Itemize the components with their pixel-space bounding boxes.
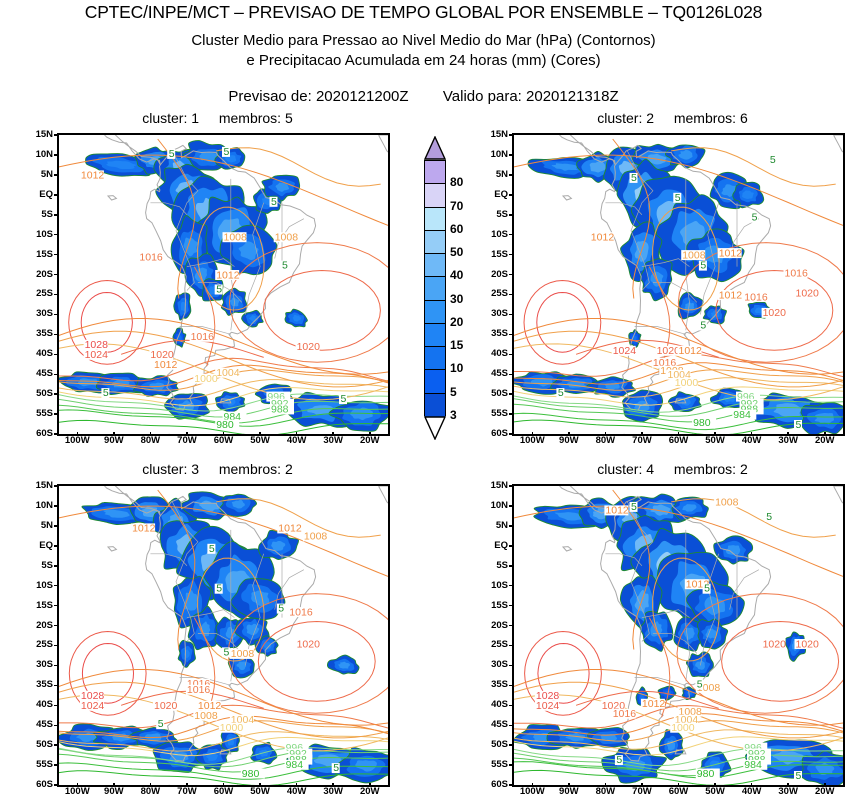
x-axis-tick-label: 20W xyxy=(808,435,842,446)
colorbar-label-60: 60 xyxy=(450,222,463,236)
colorbar-cell-70 xyxy=(425,184,445,207)
x-axis-tick-label: 20W xyxy=(353,435,387,446)
y-axis-tick-label: 10S xyxy=(482,229,508,240)
map-panel-cluster-4[interactable]: 1012101210081020100810281024102010121016… xyxy=(512,484,845,787)
x-axis-tick xyxy=(113,783,115,787)
y-axis-tick-label: 45S xyxy=(27,368,53,379)
x-axis-tick-label: 20W xyxy=(353,786,387,797)
x-axis-tick-label: 100W xyxy=(515,786,549,797)
x-axis-tick xyxy=(186,783,188,787)
svg-text:1008: 1008 xyxy=(304,531,328,543)
svg-text:1024: 1024 xyxy=(536,700,560,712)
y-axis-tick-label: 5N xyxy=(27,520,53,531)
y-axis-tick xyxy=(54,413,58,415)
x-axis-tick xyxy=(787,432,789,436)
y-axis-tick-label: 40S xyxy=(482,699,508,710)
y-axis-tick-label: 50S xyxy=(27,739,53,750)
colorbar-cell-10 xyxy=(425,347,445,370)
svg-text:1012: 1012 xyxy=(591,232,615,244)
panel-caption-cluster-2: cluster: 2 membros: 6 xyxy=(500,110,845,126)
svg-text:5: 5 xyxy=(333,762,339,774)
colorbar-cell-15 xyxy=(425,324,445,347)
y-axis-tick-label: 35S xyxy=(27,679,53,690)
map-panel-cluster-2[interactable]: 1012100810121024102010121016100810161020… xyxy=(512,133,845,436)
subtitle-line-1: Cluster Medio para Pressao ao Nivel Medi… xyxy=(0,32,847,49)
map-panel-cluster-1[interactable]: 1012101610081008101210281024102010121016… xyxy=(57,133,390,436)
y-axis-tick xyxy=(54,174,58,176)
y-axis-tick-label: 10N xyxy=(27,500,53,511)
y-axis-tick xyxy=(509,685,513,687)
y-axis-tick xyxy=(54,433,58,435)
x-axis-tick-label: 80W xyxy=(133,786,167,797)
y-axis-tick xyxy=(509,134,513,136)
y-axis-tick xyxy=(54,134,58,136)
x-axis-tick-label: 40W xyxy=(735,435,769,446)
y-axis-tick-label: 5S xyxy=(482,560,508,571)
members-label-1: membros: xyxy=(219,110,281,126)
y-axis-tick xyxy=(509,393,513,395)
svg-text:1024: 1024 xyxy=(81,700,105,712)
x-axis-tick-label: 80W xyxy=(588,786,622,797)
svg-text:1016: 1016 xyxy=(613,708,637,720)
map-canvas-cluster-2: 1012100810121024102010121016100810161020… xyxy=(514,135,843,434)
x-axis-tick-label: 30W xyxy=(771,786,805,797)
y-axis-tick-label: 60S xyxy=(482,428,508,439)
x-axis-tick xyxy=(259,783,261,787)
colorbar-cell-30 xyxy=(425,277,445,300)
y-axis-tick xyxy=(509,314,513,316)
svg-text:5: 5 xyxy=(209,543,215,555)
x-axis-tick xyxy=(568,783,570,787)
forecast-time-line: Previsao de: 2020121200Z Valido para: 20… xyxy=(0,88,847,105)
colorbar-cell-80 xyxy=(425,161,445,184)
forecast-init-value: 2020121200Z xyxy=(316,88,409,105)
y-axis-tick xyxy=(54,625,58,627)
colorbar-cell-5 xyxy=(425,370,445,393)
svg-text:1020: 1020 xyxy=(796,638,820,650)
svg-text:1020: 1020 xyxy=(657,345,681,357)
colorbar-cell-50 xyxy=(425,231,445,254)
colorbar-label-70: 70 xyxy=(450,199,463,213)
y-axis-tick xyxy=(509,214,513,216)
y-axis-tick xyxy=(54,764,58,766)
svg-text:1016: 1016 xyxy=(785,267,809,279)
members-value-2: 6 xyxy=(740,110,748,126)
y-axis-tick xyxy=(54,565,58,567)
x-axis-tick-label: 60W xyxy=(662,435,696,446)
y-axis-tick xyxy=(509,545,513,547)
x-axis-tick-label: 60W xyxy=(662,786,696,797)
x-axis-tick xyxy=(223,432,225,436)
members-label-2: membros: xyxy=(674,110,736,126)
y-axis-tick-label: 5S xyxy=(482,209,508,220)
x-axis-tick-label: 100W xyxy=(515,435,549,446)
svg-text:980: 980 xyxy=(242,768,260,780)
y-axis-tick xyxy=(509,433,513,435)
svg-text:1016: 1016 xyxy=(191,331,215,343)
svg-text:5: 5 xyxy=(224,646,230,658)
y-axis-tick xyxy=(509,705,513,707)
y-axis-tick xyxy=(509,744,513,746)
y-axis-tick-label: EQ xyxy=(27,540,53,551)
colorbar-label-5: 5 xyxy=(450,385,457,399)
y-axis-tick-label: 25S xyxy=(482,288,508,299)
y-axis-tick xyxy=(509,174,513,176)
y-axis-tick-label: 10S xyxy=(27,580,53,591)
x-axis-tick xyxy=(150,783,152,787)
svg-text:1000: 1000 xyxy=(220,722,244,734)
svg-text:5: 5 xyxy=(796,419,802,431)
y-axis-tick-label: 55S xyxy=(27,759,53,770)
y-axis-tick-label: 15S xyxy=(27,600,53,611)
svg-text:5: 5 xyxy=(278,603,284,615)
x-axis-tick-label: 50W xyxy=(698,786,732,797)
x-axis-tick xyxy=(824,783,826,787)
x-axis-tick-label: 90W xyxy=(552,786,586,797)
cluster-value-4: 4 xyxy=(646,461,654,477)
x-axis-tick-label: 80W xyxy=(133,435,167,446)
colorbar-top-arrow xyxy=(424,136,446,160)
y-axis-tick-label: EQ xyxy=(27,189,53,200)
svg-text:1008: 1008 xyxy=(194,710,218,722)
members-value-3: 2 xyxy=(285,461,293,477)
x-axis-tick-label: 90W xyxy=(97,786,131,797)
y-axis-tick xyxy=(54,234,58,236)
x-axis-tick-label: 60W xyxy=(207,786,241,797)
svg-text:1008: 1008 xyxy=(275,232,299,244)
svg-text:1020: 1020 xyxy=(763,307,787,319)
y-axis-tick-label: 15S xyxy=(482,249,508,260)
y-axis-tick xyxy=(509,154,513,156)
svg-text:5: 5 xyxy=(169,148,175,160)
precipitation-shading xyxy=(514,494,843,785)
svg-text:980: 980 xyxy=(693,417,711,429)
y-axis-tick xyxy=(509,294,513,296)
svg-text:1012: 1012 xyxy=(719,289,743,301)
y-axis-tick-label: 10N xyxy=(482,500,508,511)
y-axis-tick xyxy=(509,505,513,507)
y-axis-tick xyxy=(54,214,58,216)
y-axis-tick xyxy=(54,645,58,647)
x-axis-tick xyxy=(77,783,79,787)
svg-text:5: 5 xyxy=(103,387,109,399)
x-axis-tick xyxy=(186,432,188,436)
members-value-1: 5 xyxy=(285,110,293,126)
x-axis-tick xyxy=(824,432,826,436)
y-axis-tick-label: EQ xyxy=(482,540,508,551)
x-axis-tick-label: 40W xyxy=(735,786,769,797)
svg-text:1016: 1016 xyxy=(744,291,768,303)
svg-text:5: 5 xyxy=(216,284,222,296)
x-axis-tick-label: 30W xyxy=(316,786,350,797)
y-axis-tick-label: 55S xyxy=(27,408,53,419)
panel-caption-cluster-3: cluster: 3 membros: 2 xyxy=(45,461,390,477)
y-axis-tick xyxy=(509,565,513,567)
x-axis-tick-label: 40W xyxy=(280,435,314,446)
svg-text:5: 5 xyxy=(631,501,637,513)
svg-text:5: 5 xyxy=(341,393,347,405)
x-axis-tick-label: 70W xyxy=(625,435,659,446)
colorbar-cell-60 xyxy=(425,208,445,231)
x-axis-tick-label: 100W xyxy=(60,786,94,797)
y-axis-tick xyxy=(509,354,513,356)
y-axis-tick-label: 35S xyxy=(482,328,508,339)
y-axis-tick xyxy=(509,374,513,376)
cluster-value-3: 3 xyxy=(191,461,199,477)
y-axis-tick xyxy=(54,254,58,256)
y-axis-tick-label: 25S xyxy=(27,639,53,650)
x-axis-tick xyxy=(113,432,115,436)
y-axis-tick-label: 45S xyxy=(482,719,508,730)
x-axis-tick-label: 50W xyxy=(698,435,732,446)
y-axis-tick xyxy=(509,274,513,276)
svg-text:1008: 1008 xyxy=(715,497,739,509)
y-axis-tick xyxy=(54,545,58,547)
y-axis-tick-label: 25S xyxy=(27,288,53,299)
colorbar-label-40: 40 xyxy=(450,268,463,282)
y-axis-tick-label: 40S xyxy=(27,348,53,359)
svg-text:988: 988 xyxy=(271,404,289,416)
x-axis-tick xyxy=(641,432,643,436)
y-axis-tick-label: 25S xyxy=(482,639,508,650)
y-axis-tick xyxy=(509,254,513,256)
svg-text:1012: 1012 xyxy=(642,698,666,710)
svg-text:1024: 1024 xyxy=(85,349,109,361)
y-axis-tick xyxy=(54,393,58,395)
colorbar-label-20: 20 xyxy=(450,315,463,329)
x-axis-tick-label: 30W xyxy=(316,435,350,446)
x-axis-tick xyxy=(223,783,225,787)
x-axis-tick xyxy=(332,783,334,787)
colorbar-label-30: 30 xyxy=(450,292,463,306)
cluster-value-2: 2 xyxy=(646,110,654,126)
svg-text:984: 984 xyxy=(733,409,751,421)
svg-text:1012: 1012 xyxy=(216,269,240,281)
y-axis-tick-label: 35S xyxy=(482,679,508,690)
svg-text:1016: 1016 xyxy=(139,251,163,263)
svg-text:1008: 1008 xyxy=(231,648,255,660)
svg-text:5: 5 xyxy=(770,154,776,166)
svg-text:984: 984 xyxy=(744,759,762,771)
svg-text:5: 5 xyxy=(282,260,288,272)
y-axis-tick-label: 5N xyxy=(482,169,508,180)
svg-text:1008: 1008 xyxy=(224,232,248,244)
y-axis-tick-label: 50S xyxy=(27,388,53,399)
colorbar-label-80: 80 xyxy=(450,175,463,189)
colorbar-body xyxy=(424,160,446,416)
svg-text:1000: 1000 xyxy=(194,373,218,385)
forecast-init-label: Previsao de: xyxy=(228,88,311,105)
map-canvas-cluster-3: 1012101610201008102810241020101610161012… xyxy=(59,486,388,785)
members-label-3: membros: xyxy=(219,461,281,477)
y-axis-tick-label: 10N xyxy=(27,149,53,160)
svg-text:5: 5 xyxy=(271,196,277,208)
colorbar-label-50: 50 xyxy=(450,245,463,259)
y-axis-tick-label: 40S xyxy=(482,348,508,359)
y-axis-tick xyxy=(54,705,58,707)
y-axis-tick-label: 30S xyxy=(482,659,508,670)
y-axis-tick-label: 15N xyxy=(27,480,53,491)
precipitation-colorbar: 80706050403020151053 xyxy=(424,136,446,436)
colorbar-cell-40 xyxy=(425,254,445,277)
svg-text:1012: 1012 xyxy=(679,345,703,357)
x-axis-tick-label: 50W xyxy=(243,435,277,446)
x-axis-tick xyxy=(77,432,79,436)
x-axis-tick xyxy=(751,783,753,787)
y-axis-tick-label: 45S xyxy=(482,368,508,379)
x-axis-tick xyxy=(787,783,789,787)
svg-text:5: 5 xyxy=(700,319,706,331)
x-axis-tick xyxy=(369,783,371,787)
x-axis-tick xyxy=(605,783,607,787)
svg-text:5: 5 xyxy=(704,583,710,595)
y-axis-tick xyxy=(54,154,58,156)
svg-text:980: 980 xyxy=(697,768,715,780)
y-axis-tick xyxy=(509,665,513,667)
svg-text:1020: 1020 xyxy=(297,638,321,650)
svg-text:1012: 1012 xyxy=(605,505,629,517)
y-axis-tick xyxy=(54,505,58,507)
svg-text:1012: 1012 xyxy=(81,170,105,182)
members-value-4: 2 xyxy=(740,461,748,477)
x-axis-tick-label: 20W xyxy=(808,786,842,797)
x-axis-tick-label: 50W xyxy=(243,786,277,797)
x-axis-tick xyxy=(568,432,570,436)
panel-caption-cluster-4: cluster: 4 membros: 2 xyxy=(500,461,845,477)
y-axis-tick xyxy=(54,354,58,356)
y-axis-tick-label: 60S xyxy=(27,779,53,790)
y-axis-tick-label: 50S xyxy=(482,739,508,750)
y-axis-tick xyxy=(54,374,58,376)
y-axis-tick-label: EQ xyxy=(482,189,508,200)
svg-text:1020: 1020 xyxy=(297,341,321,353)
map-panel-cluster-3[interactable]: 1012101610201008102810241020101610161012… xyxy=(57,484,390,787)
y-axis-tick-label: 40S xyxy=(27,699,53,710)
x-axis-tick-label: 70W xyxy=(625,786,659,797)
y-axis-tick xyxy=(509,764,513,766)
svg-text:1016: 1016 xyxy=(187,684,211,696)
y-axis-tick-label: 5N xyxy=(27,169,53,180)
y-axis-tick-label: 5S xyxy=(27,560,53,571)
y-axis-tick-label: 5N xyxy=(482,520,508,531)
y-axis-tick-label: 20S xyxy=(27,269,53,280)
y-axis-tick-label: 60S xyxy=(482,779,508,790)
map-canvas-cluster-4: 1012101210081020100810281024102010121016… xyxy=(514,486,843,785)
y-axis-tick xyxy=(54,665,58,667)
svg-text:1024: 1024 xyxy=(613,345,637,357)
panel-caption-cluster-1: cluster: 1 membros: 5 xyxy=(45,110,390,126)
x-axis-tick-label: 30W xyxy=(771,435,805,446)
colorbar-label-3: 3 xyxy=(450,408,457,422)
x-axis-tick xyxy=(332,432,334,436)
members-label-4: membros: xyxy=(674,461,736,477)
y-axis-tick xyxy=(509,585,513,587)
colorbar-cell-3 xyxy=(425,394,445,417)
svg-text:5: 5 xyxy=(697,678,703,690)
y-axis-tick xyxy=(509,485,513,487)
svg-text:1016: 1016 xyxy=(289,606,313,618)
svg-text:984: 984 xyxy=(286,759,304,771)
svg-text:5: 5 xyxy=(766,511,772,523)
x-axis-tick xyxy=(532,432,534,436)
y-axis-tick xyxy=(54,585,58,587)
svg-text:1000: 1000 xyxy=(675,377,699,389)
y-axis-tick-label: 15N xyxy=(482,129,508,140)
x-axis-tick xyxy=(296,783,298,787)
svg-text:1012: 1012 xyxy=(154,359,178,371)
y-axis-tick xyxy=(54,784,58,786)
x-axis-tick-label: 70W xyxy=(170,435,204,446)
svg-text:980: 980 xyxy=(216,419,234,431)
x-axis-tick xyxy=(369,432,371,436)
y-axis-tick xyxy=(509,784,513,786)
cluster-label-4: cluster: xyxy=(597,461,642,477)
svg-text:1004: 1004 xyxy=(216,367,240,379)
svg-text:1020: 1020 xyxy=(796,287,820,299)
y-axis-tick-label: 45S xyxy=(27,719,53,730)
y-axis-tick xyxy=(509,334,513,336)
y-axis-tick xyxy=(509,525,513,527)
y-axis-tick-label: 5S xyxy=(27,209,53,220)
y-axis-tick-label: 20S xyxy=(482,269,508,280)
y-axis-tick-label: 55S xyxy=(482,759,508,770)
y-axis-tick xyxy=(509,194,513,196)
x-axis-tick-label: 40W xyxy=(280,786,314,797)
y-axis-tick xyxy=(509,625,513,627)
y-axis-tick xyxy=(54,744,58,746)
x-axis-tick xyxy=(150,432,152,436)
x-axis-tick-label: 100W xyxy=(60,435,94,446)
forecast-valid-label: Valido para: xyxy=(443,88,522,105)
svg-text:5: 5 xyxy=(631,172,637,184)
y-axis-tick-label: 15S xyxy=(27,249,53,260)
svg-text:5: 5 xyxy=(216,583,222,595)
cluster-label-1: cluster: xyxy=(142,110,187,126)
x-axis-tick xyxy=(259,432,261,436)
y-axis-tick xyxy=(54,485,58,487)
y-axis-tick-label: 35S xyxy=(27,328,53,339)
x-axis-tick xyxy=(641,783,643,787)
y-axis-tick xyxy=(54,194,58,196)
y-axis-tick xyxy=(509,605,513,607)
x-axis-tick xyxy=(678,783,680,787)
svg-text:5: 5 xyxy=(158,718,164,730)
y-axis-tick xyxy=(509,413,513,415)
y-axis-tick-label: 30S xyxy=(482,308,508,319)
y-axis-tick-label: 10N xyxy=(482,149,508,160)
colorbar-label-10: 10 xyxy=(450,361,463,375)
y-axis-tick-label: 15N xyxy=(27,129,53,140)
y-axis-tick-label: 20S xyxy=(482,620,508,631)
x-axis-tick xyxy=(751,432,753,436)
x-axis-tick-label: 70W xyxy=(170,786,204,797)
y-axis-tick xyxy=(509,645,513,647)
y-axis-tick xyxy=(54,685,58,687)
svg-text:5: 5 xyxy=(558,387,564,399)
y-axis-tick-label: 60S xyxy=(27,428,53,439)
x-axis-tick xyxy=(296,432,298,436)
y-axis-tick-label: 10S xyxy=(482,580,508,591)
svg-text:1020: 1020 xyxy=(154,700,178,712)
x-axis-tick-label: 90W xyxy=(97,435,131,446)
y-axis-tick xyxy=(54,525,58,527)
svg-text:5: 5 xyxy=(224,146,230,158)
y-axis-tick xyxy=(54,314,58,316)
y-axis-tick xyxy=(54,334,58,336)
x-axis-tick-label: 90W xyxy=(552,435,586,446)
y-axis-tick-label: 15S xyxy=(482,600,508,611)
svg-text:5: 5 xyxy=(796,770,802,782)
